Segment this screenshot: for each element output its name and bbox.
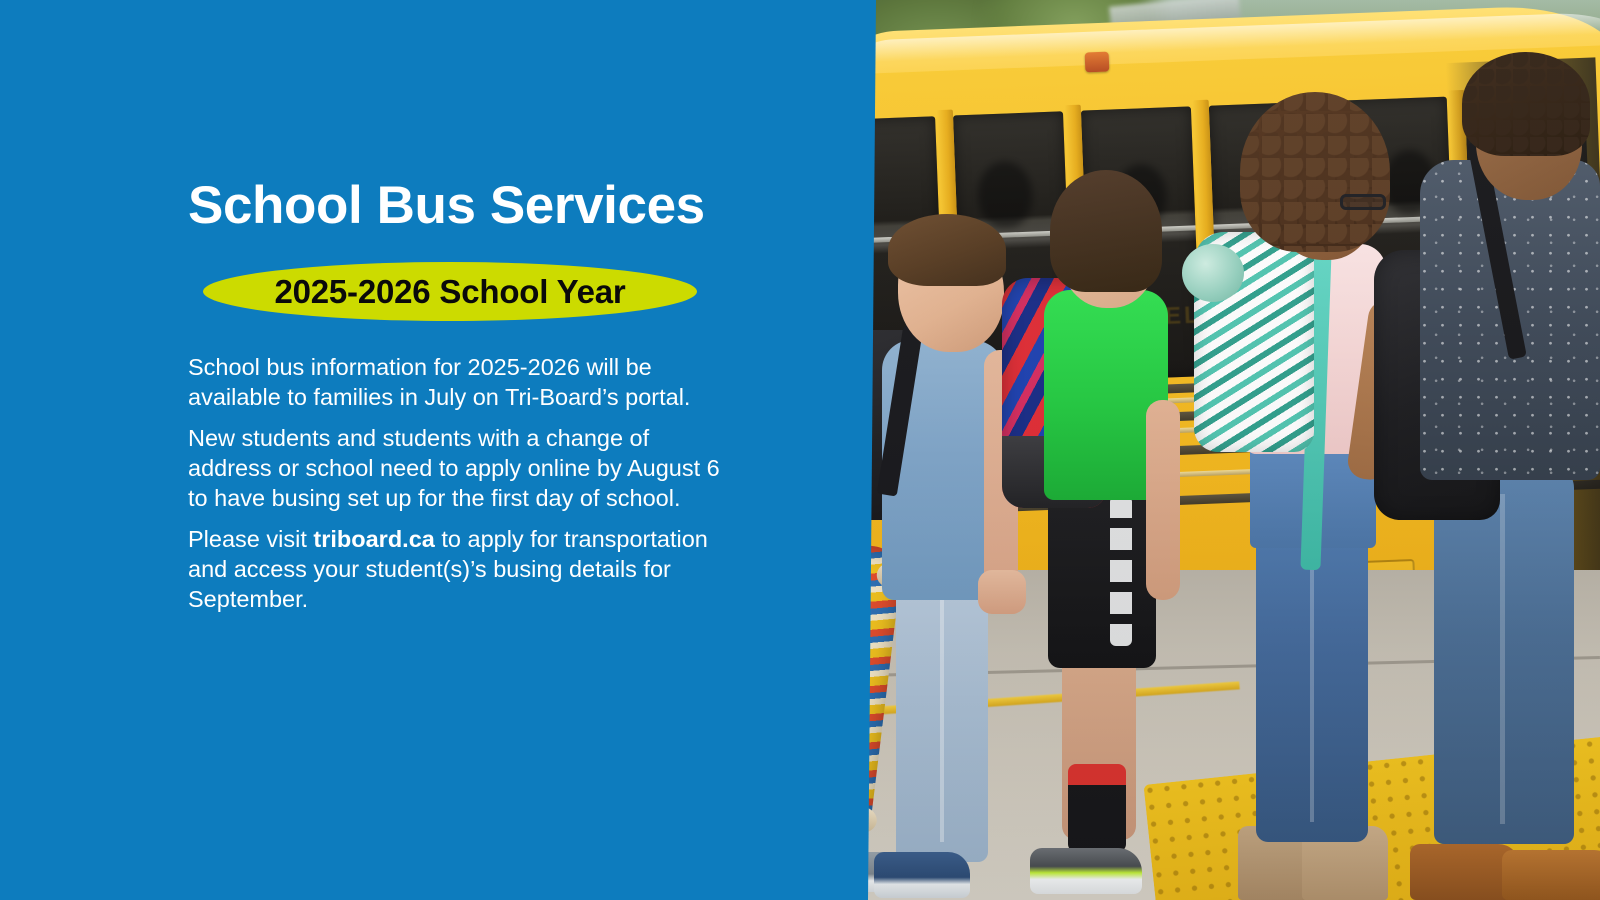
school-bus-photo: ELEMENTA — [860, 0, 1600, 900]
sneaker — [1030, 848, 1142, 894]
hair — [1240, 92, 1390, 252]
jeans — [896, 562, 988, 862]
leather-shoe — [1502, 850, 1600, 900]
student-boy-denim-jacket — [1380, 0, 1600, 900]
school-year-badge-label: 2025-2026 School Year — [274, 273, 625, 311]
paragraph-availability: School bus information for 2025-2026 wil… — [188, 352, 736, 412]
student-boy-green-shirt — [1000, 0, 1220, 900]
photo-stage: ELEMENTA — [860, 0, 1600, 900]
paragraph-visit-site: Please visit triboard.ca to apply for tr… — [188, 524, 736, 614]
pompom-charm — [1182, 244, 1244, 302]
website-link-text[interactable]: triboard.ca — [313, 526, 434, 552]
jeans — [1434, 464, 1574, 844]
hair — [1050, 170, 1162, 292]
sock — [1068, 764, 1126, 852]
body-copy: School bus information for 2025-2026 wil… — [188, 352, 736, 614]
school-bus-services-poster: ELEMENTA — [0, 0, 1600, 900]
shoe — [874, 852, 970, 898]
hair — [1462, 52, 1590, 156]
arm — [1146, 400, 1180, 600]
school-year-badge: 2025-2026 School Year — [203, 262, 697, 321]
blue-info-panel: School Bus Services 2025-2026 School Yea… — [0, 0, 880, 900]
visit-prefix: Please visit — [188, 526, 313, 552]
paragraph-apply-deadline: New students and students with a change … — [188, 423, 736, 513]
page-title: School Bus Services — [188, 178, 705, 234]
hair — [888, 214, 1006, 286]
